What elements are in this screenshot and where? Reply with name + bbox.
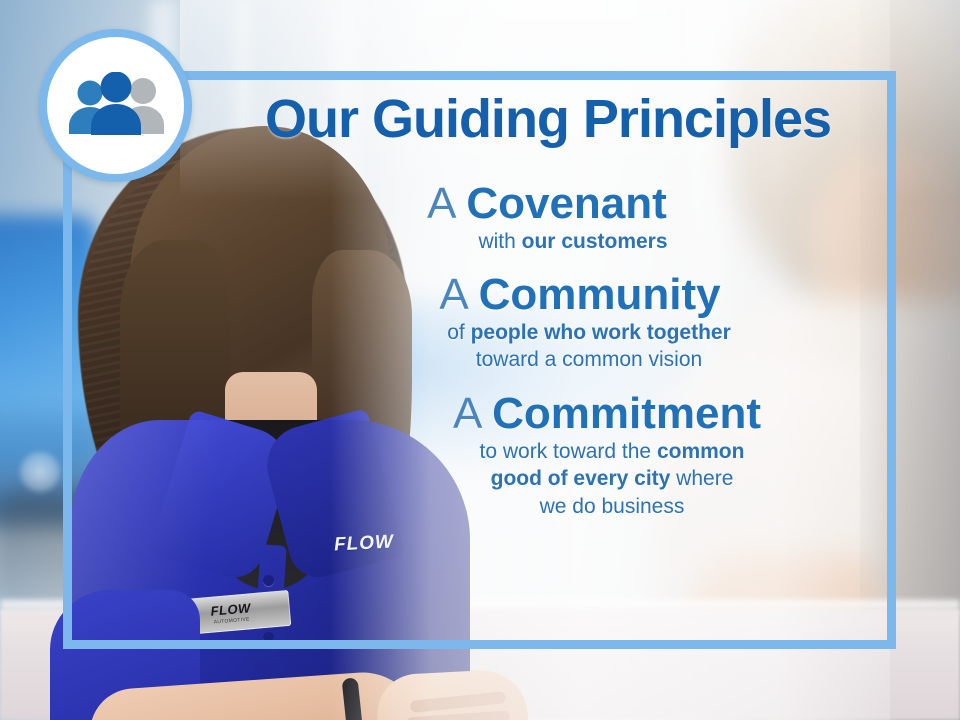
principle-title: A Commitment bbox=[300, 390, 880, 438]
principle-covenant: A Covenant with our customers bbox=[300, 180, 880, 255]
principle-commitment: A Commitment to work toward the common g… bbox=[300, 390, 880, 521]
principle-article: A bbox=[439, 270, 466, 319]
page-title: Our Guiding Principles bbox=[218, 92, 878, 146]
principle-subtitle: of people who work together toward a com… bbox=[300, 319, 880, 374]
car-emblem bbox=[20, 452, 60, 492]
principle-sub-regular: with bbox=[478, 230, 521, 253]
principle-sub-bold: people who work together bbox=[471, 321, 731, 344]
guiding-principles-graphic: FLOW FLOW AUTOMOTIVE bbox=[0, 0, 960, 720]
principle-sub-row: we do business bbox=[344, 493, 880, 521]
name-badge-brand: FLOW bbox=[210, 601, 251, 617]
principle-sub-row: to work toward the common bbox=[344, 438, 880, 466]
principle-sub-regular: where bbox=[670, 467, 733, 490]
principle-article: A bbox=[427, 179, 454, 228]
principle-title: A Community bbox=[300, 271, 880, 319]
principle-subtitle: with our customers bbox=[300, 228, 880, 256]
principle-sub-regular: of bbox=[447, 321, 470, 344]
principle-sub-row: of people who work together bbox=[300, 319, 878, 347]
principle-sub-bold: our customers bbox=[522, 230, 668, 253]
principle-keyword: Commitment bbox=[492, 389, 761, 438]
people-badge bbox=[39, 29, 192, 182]
principle-keyword: Community bbox=[479, 270, 721, 319]
principle-sub-bold: common bbox=[657, 440, 745, 463]
principle-sub-bold: good of every city bbox=[491, 467, 671, 490]
principle-article: A bbox=[453, 389, 480, 438]
principle-title: A Covenant bbox=[300, 180, 880, 228]
principle-subtitle: to work toward the common good of every … bbox=[300, 438, 880, 521]
principle-sub-row: toward a common vision bbox=[300, 346, 878, 374]
principle-sub-regular: to work toward the bbox=[480, 440, 657, 463]
principle-keyword: Covenant bbox=[466, 179, 666, 228]
principle-community: A Community of people who work together … bbox=[300, 271, 880, 374]
group-people-icon bbox=[64, 72, 168, 140]
principle-sub-row: good of every city where bbox=[344, 465, 880, 493]
principles-list: A Covenant with our customers A Communit… bbox=[300, 180, 880, 523]
